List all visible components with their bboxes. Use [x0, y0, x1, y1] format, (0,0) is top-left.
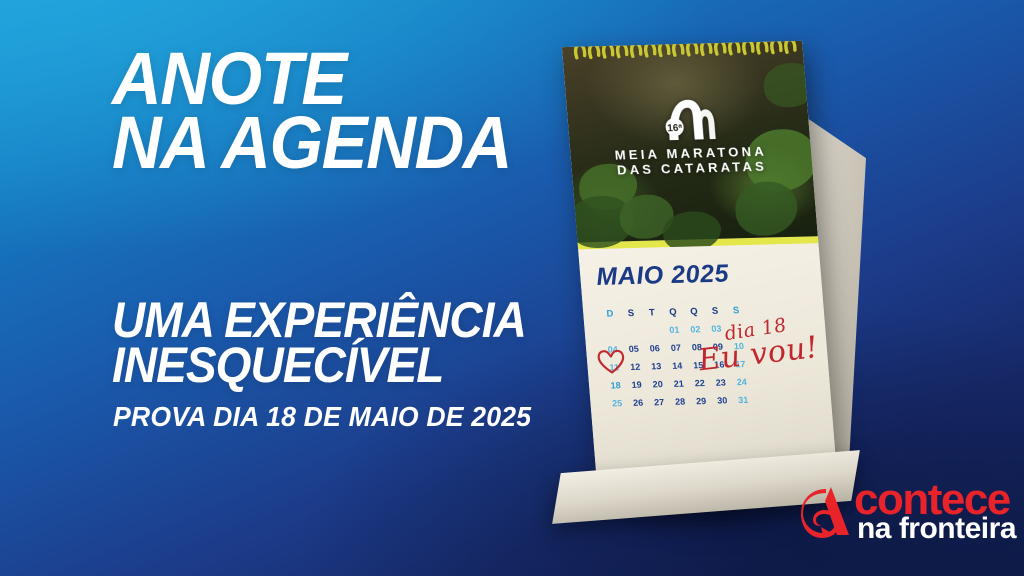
note-line-2: Eu vou! [696, 330, 821, 378]
day-cell-04: 04 [602, 340, 624, 358]
weekday-3: Q [662, 303, 684, 321]
acontece-swirl-icon [801, 483, 857, 539]
day-cell-28: 28 [669, 392, 691, 410]
day-cell-30: 30 [711, 391, 733, 409]
day-cell-01: 01 [663, 321, 685, 339]
day-cell-21: 21 [667, 374, 689, 392]
event-date-line: PROVA DIA 18 DE MAIO DE 2025 [113, 401, 531, 433]
day-cell-31: 31 [732, 391, 754, 409]
day-cell-29: 29 [690, 392, 712, 410]
day-cell-27: 27 [648, 393, 670, 411]
handwritten-note: dia 18 Eu vou! [695, 315, 820, 373]
day-cell-19: 19 [625, 376, 647, 394]
page-title: ANOTE NA AGENDA [112, 47, 511, 174]
day-cell-12: 12 [624, 358, 646, 376]
day-cell-20: 20 [646, 375, 668, 393]
acontece-na-fronteira-logo[interactable]: contece na fronteira [801, 481, 1016, 542]
day-cell-empty: . [642, 321, 664, 339]
day-cell-empty: . [621, 322, 643, 340]
weekday-1: S [620, 304, 642, 322]
watermark-line-2: na fronteira [857, 516, 1016, 542]
day-cell-06: 06 [644, 339, 666, 357]
subheadline: UMA EXPERIÊNCIA INESQUECÍVEL [112, 298, 526, 388]
day-cell-18: 18 [604, 376, 626, 394]
day-cell-25: 25 [606, 394, 628, 412]
week-row: 25262728293031 [606, 391, 758, 413]
month-title: MAIO 2025 [595, 258, 808, 292]
calendar-front-card: 16ª MEIA MARATONA DAS CATARATAS MAIO 202… [562, 41, 838, 486]
day-cell-empty: . [600, 322, 622, 340]
calendar-month-page: MAIO 2025 DSTQQSS ...010203.040506070809… [578, 243, 837, 486]
day-cell-11: 11 [603, 358, 625, 376]
copy-block: ANOTE NA AGENDA UMA EXPERIÊNCIA INESQUEC… [112, 0, 582, 576]
day-cell-07: 07 [665, 339, 687, 357]
day-cell-24: 24 [731, 373, 753, 391]
weekday-0: D [599, 304, 621, 322]
event-logo: 16ª MEIA MARATONA DAS CATARATAS [566, 93, 813, 179]
day-cell-26: 26 [627, 394, 649, 412]
day-cell-05: 05 [623, 340, 645, 358]
calendar-cover-photo: 16ª MEIA MARATONA DAS CATARATAS [562, 41, 818, 243]
promo-poster: ANOTE NA AGENDA UMA EXPERIÊNCIA INESQUEC… [0, 0, 1024, 576]
watermark-text: contece na fronteira [854, 481, 1016, 542]
weekday-2: T [641, 303, 663, 321]
day-cell-13: 13 [645, 357, 667, 375]
edition-badge-text: 16ª [667, 123, 683, 134]
day-cell-14: 14 [666, 357, 688, 375]
waterfall-logo-icon: 16ª [656, 95, 720, 142]
